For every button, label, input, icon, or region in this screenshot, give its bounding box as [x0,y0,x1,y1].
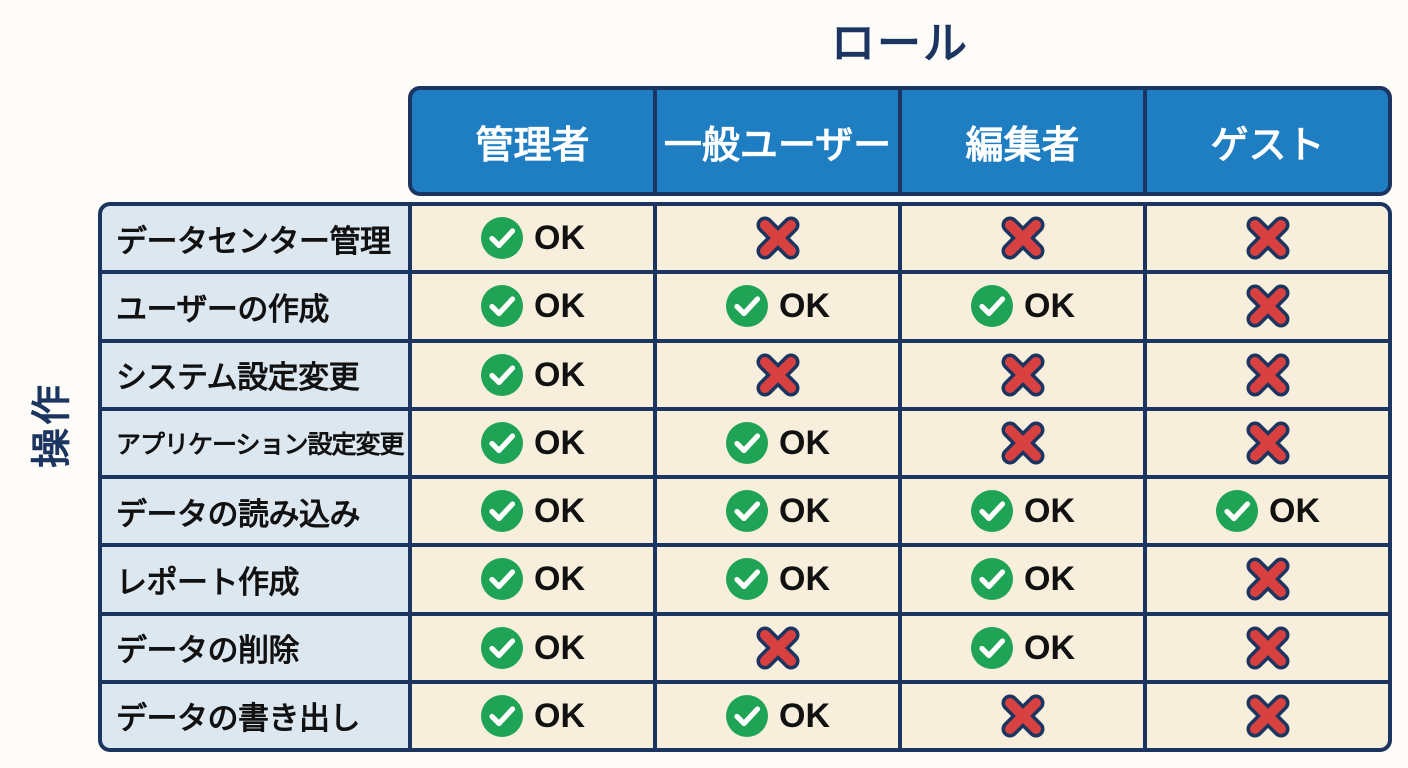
cell-r5-c1[interactable]: OK [412,479,653,543]
check-circle-icon [725,557,769,601]
column-header-3[interactable]: 編集者 [902,90,1143,192]
cell-r4-c2[interactable]: OK [657,411,898,475]
ok-label: OK [534,358,585,392]
ok-label: OK [534,426,585,460]
cell-r3-c2[interactable] [657,343,898,407]
cross-mark-icon [754,624,802,672]
ok-label: OK [534,631,585,665]
cell-r4-c3[interactable] [902,411,1143,475]
cross-mark-icon [754,351,802,399]
cell-r3-c4[interactable] [1147,343,1388,407]
check-circle-icon [480,626,524,670]
row-label-5[interactable]: データの読み込み [102,479,408,543]
cell-r6-c1[interactable]: OK [412,547,653,611]
cell-r3-c1[interactable]: OK [412,343,653,407]
cell-r5-c4[interactable]: OK [1147,479,1388,543]
ok-label: OK [534,221,585,255]
check-circle-icon [970,489,1014,533]
check-circle-icon [970,557,1014,601]
cross-mark-icon [1244,419,1292,467]
row-label-3[interactable]: システム設定変更 [102,343,408,407]
cell-r8-c1[interactable]: OK [412,684,653,748]
ok-label: OK [1024,494,1075,528]
cell-r8-c2[interactable]: OK [657,684,898,748]
column-header-2[interactable]: 一般ユーザー [657,90,898,192]
cell-r2-c1[interactable]: OK [412,274,653,338]
cell-r7-c1[interactable]: OK [412,616,653,680]
row-label-6[interactable]: レポート作成 [102,547,408,611]
check-circle-icon [725,284,769,328]
cell-r5-c2[interactable]: OK [657,479,898,543]
check-circle-icon [480,284,524,328]
column-header-4[interactable]: ゲスト [1147,90,1388,192]
cross-mark-icon [754,214,802,262]
check-circle-icon [480,557,524,601]
cross-mark-icon [1244,351,1292,399]
row-label-8[interactable]: データの書き出し [102,684,408,748]
cell-r2-c3[interactable]: OK [902,274,1143,338]
cross-mark-icon [999,692,1047,740]
ok-label: OK [779,562,830,596]
cross-mark-icon [999,351,1047,399]
check-circle-icon [725,421,769,465]
check-circle-icon [480,353,524,397]
cell-r6-c3[interactable]: OK [902,547,1143,611]
cell-r5-c3[interactable]: OK [902,479,1143,543]
cell-r6-c4[interactable] [1147,547,1388,611]
cell-r7-c4[interactable] [1147,616,1388,680]
ok-label: OK [1024,289,1075,323]
cross-mark-icon [999,214,1047,262]
cell-r7-c3[interactable]: OK [902,616,1143,680]
ok-label: OK [779,426,830,460]
check-circle-icon [1215,489,1259,533]
ok-label: OK [1269,494,1320,528]
check-circle-icon [970,284,1014,328]
ok-label: OK [534,289,585,323]
ok-label: OK [534,562,585,596]
ok-label: OK [779,289,830,323]
cell-r2-c4[interactable] [1147,274,1388,338]
cell-r3-c3[interactable] [902,343,1143,407]
cell-r2-c2[interactable]: OK [657,274,898,338]
matrix-header-row: 管理者一般ユーザー編集者ゲスト [408,86,1392,196]
ok-label: OK [534,494,585,528]
matrix-body-grid: データセンター管理OKユーザーの作成OKOKOKシステム設定変更OKアプリケーシ… [98,202,1392,752]
cell-r6-c2[interactable]: OK [657,547,898,611]
ok-label: OK [1024,631,1075,665]
cross-mark-icon [1244,214,1292,262]
cross-mark-icon [1244,282,1292,330]
ok-label: OK [779,699,830,733]
ok-label: OK [1024,562,1075,596]
column-header-1[interactable]: 管理者 [412,90,653,192]
cell-r1-c1[interactable]: OK [412,206,653,270]
row-axis-title: 操作 [0,330,96,520]
cross-mark-icon [1244,555,1292,603]
cell-r8-c3[interactable] [902,684,1143,748]
cell-r8-c4[interactable] [1147,684,1388,748]
row-label-1[interactable]: データセンター管理 [102,206,408,270]
cell-r4-c4[interactable] [1147,411,1388,475]
cell-r7-c2[interactable] [657,616,898,680]
check-circle-icon [480,694,524,738]
cell-r1-c4[interactable] [1147,206,1388,270]
cross-mark-icon [1244,624,1292,672]
column-axis-title: ロール [408,4,1392,74]
ok-label: OK [534,699,585,733]
row-label-2[interactable]: ユーザーの作成 [102,274,408,338]
ok-label: OK [779,494,830,528]
check-circle-icon [970,626,1014,670]
permission-matrix: 管理者一般ユーザー編集者ゲスト データセンター管理OKユーザーの作成OKOKOK… [98,86,1392,752]
check-circle-icon [480,489,524,533]
check-circle-icon [480,421,524,465]
cross-mark-icon [1244,692,1292,740]
row-label-4[interactable]: アプリケーション設定変更 [102,411,408,475]
cross-mark-icon [999,419,1047,467]
check-circle-icon [725,489,769,533]
cell-r1-c3[interactable] [902,206,1143,270]
row-label-7[interactable]: データの削除 [102,616,408,680]
check-circle-icon [725,694,769,738]
cell-r4-c1[interactable]: OK [412,411,653,475]
cell-r1-c2[interactable] [657,206,898,270]
check-circle-icon [480,216,524,260]
row-axis-title-label: 操作 [19,382,77,468]
